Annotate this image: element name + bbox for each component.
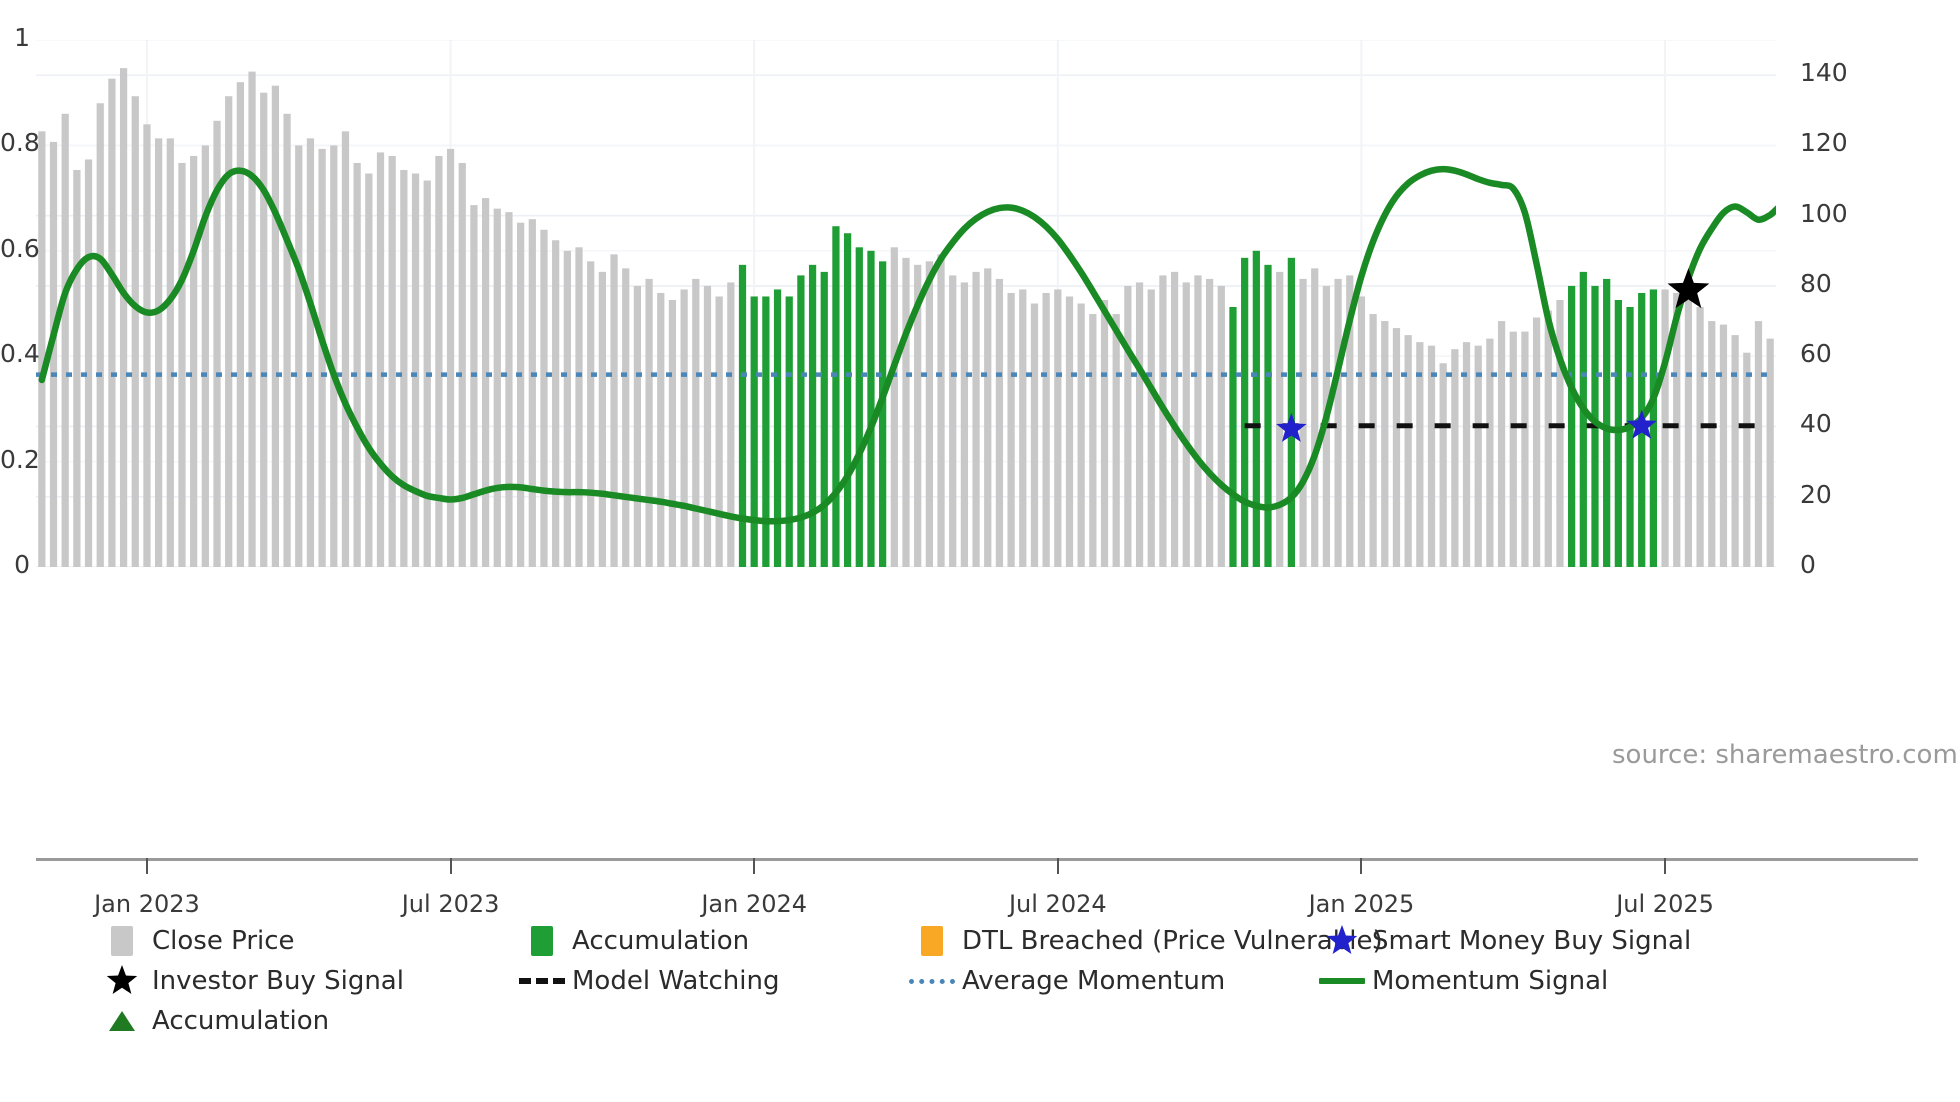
close-price-bar bbox=[248, 72, 255, 567]
star-icon bbox=[105, 964, 139, 998]
close-price-bar bbox=[132, 96, 139, 567]
close-price-bar bbox=[669, 300, 676, 567]
close-price-bar bbox=[1369, 314, 1376, 567]
accumulation-bar bbox=[809, 265, 816, 567]
close-price-bar bbox=[1545, 311, 1552, 567]
x-axis-tick-label: Jul 2025 bbox=[1616, 890, 1714, 918]
accumulation-bar bbox=[1603, 279, 1610, 567]
close-price-bar bbox=[354, 163, 361, 567]
legend-row: Accumulation bbox=[92, 1002, 1892, 1040]
close-price-bar bbox=[167, 138, 174, 567]
legend-row: Close PriceAccumulationDTL Breached (Pri… bbox=[92, 922, 1892, 960]
close-price-bar bbox=[1311, 268, 1318, 567]
y-axis-right-tick: 140 bbox=[1800, 58, 1848, 87]
close-price-bar bbox=[949, 275, 956, 567]
accumulation-bar bbox=[1253, 251, 1260, 567]
close-price-bar bbox=[400, 170, 407, 567]
legend-label: Average Momentum bbox=[962, 966, 1225, 996]
close-price-bar bbox=[120, 68, 127, 567]
close-price-bar bbox=[902, 258, 909, 567]
accumulation-bar-swatch bbox=[512, 926, 572, 956]
close-price-bar bbox=[1183, 282, 1190, 567]
y-axis-left-tick: 1 bbox=[0, 23, 30, 52]
close-price-bar bbox=[447, 149, 454, 567]
x-axis-tick-label: Jul 2024 bbox=[1009, 890, 1107, 918]
y-axis-right-tick: 0 bbox=[1800, 550, 1816, 579]
close-price-bar bbox=[575, 247, 582, 567]
close-price-bar bbox=[1510, 332, 1517, 567]
star-icon bbox=[1325, 924, 1359, 958]
close-price-bar bbox=[1767, 339, 1774, 567]
close-price-bar bbox=[1206, 279, 1213, 567]
close-price-bar bbox=[1019, 289, 1026, 567]
close-price-bar bbox=[645, 279, 652, 567]
legend-item[interactable]: Average Momentum bbox=[902, 966, 1312, 996]
close-price-bar bbox=[716, 296, 723, 567]
close-price-bar bbox=[1136, 282, 1143, 567]
accumulation-bar bbox=[821, 272, 828, 567]
accumulation-bar bbox=[879, 261, 886, 567]
line-icon bbox=[1319, 978, 1365, 984]
close-price-bar bbox=[1358, 296, 1365, 567]
close-price-bar bbox=[260, 93, 267, 567]
accumulation-bar bbox=[1580, 272, 1587, 567]
close-price-bar bbox=[108, 79, 115, 567]
legend-item[interactable]: Accumulation bbox=[92, 1006, 329, 1036]
legend-item[interactable]: Close Price bbox=[92, 926, 512, 956]
close-price-bar bbox=[1732, 335, 1739, 567]
y-axis-right-tick: 120 bbox=[1800, 128, 1848, 157]
accumulation-bar bbox=[1288, 258, 1295, 567]
accumulation-bar bbox=[856, 247, 863, 567]
square-icon bbox=[531, 926, 553, 956]
close-price-bar bbox=[190, 156, 197, 567]
close-price-bar bbox=[1533, 318, 1540, 567]
close-price-bar bbox=[972, 272, 979, 567]
legend-label: Momentum Signal bbox=[1372, 966, 1608, 996]
source-attribution: source: sharemaestro.com bbox=[1612, 740, 1958, 770]
close-price-bar bbox=[1276, 272, 1283, 567]
triangle-icon bbox=[105, 1006, 139, 1036]
x-axis-tick-label: Jan 2025 bbox=[1309, 890, 1415, 918]
close-price-bar bbox=[1755, 321, 1762, 567]
close-price-bar bbox=[1148, 289, 1155, 567]
accumulation-bar bbox=[832, 226, 839, 567]
legend-item[interactable]: Model Watching bbox=[512, 966, 902, 996]
close-price-bar bbox=[634, 286, 641, 567]
close-price-bar bbox=[505, 212, 512, 567]
momentum-signal-swatch bbox=[1312, 978, 1372, 984]
close-price-bar bbox=[494, 209, 501, 567]
chart-root: 00.20.40.60.81 020406080100120140 Jan 20… bbox=[0, 0, 1960, 1102]
legend-row: Investor Buy SignalModel WatchingAverage… bbox=[92, 962, 1892, 1000]
close-price-bar bbox=[1007, 293, 1014, 567]
x-axis-tick bbox=[450, 858, 452, 874]
close-price-bar bbox=[377, 152, 384, 567]
model-watching-swatch bbox=[512, 978, 572, 984]
close-price-bar bbox=[564, 251, 571, 567]
close-price-bar bbox=[1218, 286, 1225, 567]
legend-item[interactable]: Investor Buy Signal bbox=[92, 964, 512, 998]
close-price-bar bbox=[587, 261, 594, 567]
legend-label: Investor Buy Signal bbox=[152, 966, 404, 996]
y-axis-left-tick: 0.4 bbox=[0, 339, 30, 368]
dotted-line-icon bbox=[909, 979, 955, 984]
close-price-bar bbox=[1440, 363, 1447, 567]
close-price-bar bbox=[1405, 335, 1412, 567]
x-axis-tick-label: Jul 2023 bbox=[402, 890, 500, 918]
close-price-bar bbox=[1043, 293, 1050, 567]
dtl-breached-swatch bbox=[902, 926, 962, 956]
legend-label: Accumulation bbox=[152, 1006, 329, 1036]
close-price-bar bbox=[1113, 314, 1120, 567]
close-price-bar bbox=[482, 198, 489, 567]
close-price-bar bbox=[622, 268, 629, 567]
close-price-bar bbox=[459, 163, 466, 567]
close-price-bar bbox=[1159, 275, 1166, 567]
close-price-bar bbox=[657, 293, 664, 567]
close-price-bar bbox=[73, 170, 80, 567]
x-axis-line bbox=[36, 858, 1918, 861]
x-axis-tick bbox=[146, 858, 148, 874]
dashed-line-icon bbox=[519, 978, 565, 984]
close-price-bar bbox=[1696, 307, 1703, 567]
close-price-bar bbox=[926, 261, 933, 567]
legend-item[interactable]: Smart Money Buy Signal bbox=[1312, 924, 1691, 958]
close-price-bar bbox=[1078, 304, 1085, 568]
accumulation-bar bbox=[1568, 286, 1575, 567]
close-price-bar bbox=[599, 272, 606, 567]
y-axis-right-tick: 40 bbox=[1800, 409, 1832, 438]
accumulation-bar bbox=[786, 296, 793, 567]
close-price-bar bbox=[1498, 321, 1505, 567]
close-price-bar bbox=[552, 240, 559, 567]
close-price-bar bbox=[330, 145, 337, 567]
accumulation-bar bbox=[797, 275, 804, 567]
square-icon bbox=[111, 926, 133, 956]
close-price-bar bbox=[1334, 279, 1341, 567]
close-price-bar bbox=[517, 223, 524, 567]
accumulation-bar bbox=[762, 296, 769, 567]
close-price-bar bbox=[365, 174, 372, 567]
close-price-bar bbox=[470, 205, 477, 567]
close-price-bar bbox=[412, 174, 419, 567]
close-price-bar bbox=[961, 282, 968, 567]
close-price-bar bbox=[155, 138, 162, 567]
x-axis-tick bbox=[753, 858, 755, 874]
plot-svg bbox=[36, 40, 1776, 567]
close-price-bar bbox=[295, 145, 302, 567]
accumulation-bar bbox=[1615, 300, 1622, 567]
legend-label: Close Price bbox=[152, 926, 295, 956]
close-price-bar bbox=[540, 230, 547, 567]
close-price-bar bbox=[996, 279, 1003, 567]
close-price-bar bbox=[1124, 286, 1131, 567]
average-momentum-swatch bbox=[902, 979, 962, 984]
close-price-bar bbox=[1708, 321, 1715, 567]
y-axis-left-tick: 0.2 bbox=[0, 445, 30, 474]
close-price-bar bbox=[1521, 332, 1528, 567]
y-axis-left-tick: 0.8 bbox=[0, 128, 30, 157]
close-price-bar bbox=[389, 156, 396, 567]
close-price-bar bbox=[704, 286, 711, 567]
plot-clip bbox=[36, 40, 1776, 567]
close-price-bar bbox=[85, 159, 92, 567]
close-price-bar bbox=[1393, 328, 1400, 567]
close-price-bar bbox=[1054, 289, 1061, 567]
close-price-bar bbox=[681, 289, 688, 567]
chart-legend: Close PriceAccumulationDTL Breached (Pri… bbox=[92, 922, 1892, 1042]
accumulation-bar bbox=[1626, 307, 1633, 567]
close-price-bar bbox=[1101, 300, 1108, 567]
close-price-bar bbox=[225, 96, 232, 567]
plot-area bbox=[36, 40, 1776, 567]
close-price-bar bbox=[1720, 325, 1727, 567]
smart-money-buy-star-swatch bbox=[1312, 924, 1372, 958]
close-price-bar bbox=[1089, 314, 1096, 567]
close-price-swatch bbox=[92, 926, 152, 956]
close-price-bar bbox=[529, 219, 536, 567]
y-axis-left-tick: 0 bbox=[0, 550, 30, 579]
close-price-bar bbox=[727, 282, 734, 567]
close-price-bar bbox=[1066, 296, 1073, 567]
accumulation-bar bbox=[1650, 289, 1657, 567]
accumulation-triangle-swatch bbox=[92, 1006, 152, 1036]
close-price-bar bbox=[97, 103, 104, 567]
y-axis-right-tick: 20 bbox=[1800, 480, 1832, 509]
close-price-bar bbox=[62, 114, 69, 567]
close-price-bar bbox=[891, 247, 898, 567]
legend-label: Model Watching bbox=[572, 966, 779, 996]
accumulation-bar bbox=[774, 289, 781, 567]
close-price-bar bbox=[984, 268, 991, 567]
y-axis-right-tick: 60 bbox=[1800, 339, 1832, 368]
accumulation-bar bbox=[844, 233, 851, 567]
x-axis-tick bbox=[1360, 858, 1362, 874]
square-icon bbox=[921, 926, 943, 956]
accumulation-bar bbox=[1229, 307, 1236, 567]
close-price-bar bbox=[283, 114, 290, 567]
accumulation-bar bbox=[1241, 258, 1248, 567]
investor-buy-star-swatch bbox=[92, 964, 152, 998]
legend-label: Accumulation bbox=[572, 926, 749, 956]
close-price-bar bbox=[143, 124, 150, 567]
close-price-bar bbox=[342, 131, 349, 567]
close-price-bar bbox=[237, 82, 244, 567]
close-price-bar bbox=[1685, 300, 1692, 567]
legend-item[interactable]: Momentum Signal bbox=[1312, 966, 1608, 996]
accumulation-bar bbox=[867, 251, 874, 567]
close-price-bar bbox=[1194, 275, 1201, 567]
close-price-bar bbox=[937, 254, 944, 567]
accumulation-bar bbox=[751, 296, 758, 567]
close-price-bar bbox=[1451, 349, 1458, 567]
x-axis-tick-label: Jan 2023 bbox=[94, 890, 200, 918]
close-price-bar bbox=[1031, 304, 1038, 568]
x-axis-tick bbox=[1057, 858, 1059, 874]
close-price-bar bbox=[1556, 300, 1563, 567]
close-price-bar bbox=[1743, 353, 1750, 567]
close-price-bar bbox=[435, 156, 442, 567]
close-price-bar bbox=[178, 163, 185, 567]
close-price-bar bbox=[272, 86, 279, 567]
close-price-bar bbox=[692, 279, 699, 567]
close-price-bar bbox=[610, 254, 617, 567]
close-price-bar bbox=[1299, 279, 1306, 567]
close-price-bar bbox=[1475, 346, 1482, 567]
y-axis-right-tick: 100 bbox=[1800, 199, 1848, 228]
y-axis-right-tick: 80 bbox=[1800, 269, 1832, 298]
close-price-bar bbox=[1381, 321, 1388, 567]
x-axis-tick bbox=[1664, 858, 1666, 874]
close-price-bar bbox=[307, 138, 314, 567]
legend-item[interactable]: Accumulation bbox=[512, 926, 902, 956]
legend-label: Smart Money Buy Signal bbox=[1372, 926, 1691, 956]
close-price-bar bbox=[1428, 346, 1435, 567]
legend-item[interactable]: DTL Breached (Price Vulnerable) bbox=[902, 926, 1312, 956]
y-axis-left-tick: 0.6 bbox=[0, 234, 30, 263]
accumulation-bar bbox=[1264, 265, 1271, 567]
x-axis-tick-label: Jan 2024 bbox=[701, 890, 807, 918]
